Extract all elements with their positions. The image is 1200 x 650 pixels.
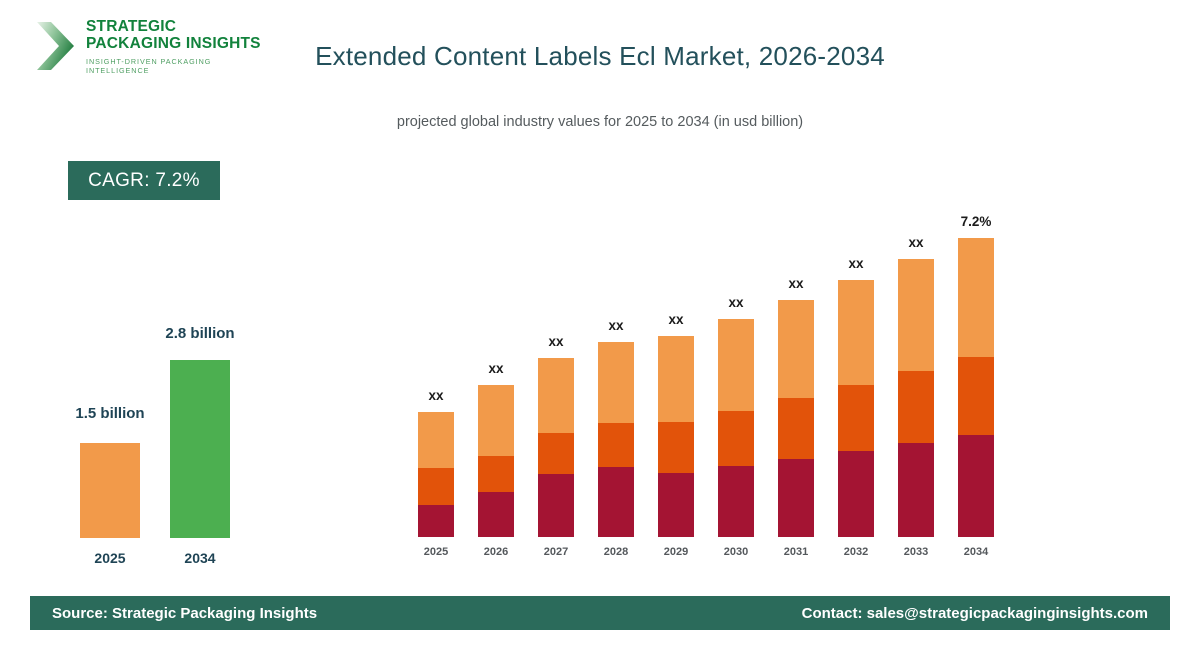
projected-market-stacked-chart: xx2025xx2026xx2027xx2028xx2029xx2030xx20…: [400, 190, 1020, 560]
stacked-segment-segment-bottom-2032: [838, 451, 874, 537]
stacked-segment-segment-bottom-2028: [598, 467, 634, 537]
stacked-bar-year-label-2028: 2028: [586, 546, 646, 558]
stacked-bar-2029: [658, 336, 694, 537]
cagr-badge: CAGR: 7.2%: [68, 161, 220, 200]
endpoint-value-label-1: 2.8 billion: [130, 325, 270, 342]
stacked-segment-segment-bottom-2025: [418, 505, 454, 537]
stacked-segment-segment-top-2025: [418, 412, 454, 468]
stacked-bar-year-label-2033: 2033: [886, 546, 946, 558]
stacked-segment-segment-top-2028: [598, 342, 634, 423]
brand-wordmark: STRATEGIC PACKAGING INSIGHTS INSIGHT-DRI…: [86, 18, 264, 75]
stacked-bar-value-label-2026: xx: [466, 361, 526, 376]
stacked-bar-value-label-2032: xx: [826, 256, 886, 271]
stacked-bar-year-label-2027: 2027: [526, 546, 586, 558]
stacked-segment-segment-bottom-2029: [658, 473, 694, 537]
endpoint-year-label-1: 2034: [155, 550, 245, 566]
stacked-bar-value-label-2027: xx: [526, 334, 586, 349]
brand-logo: STRATEGIC PACKAGING INSIGHTS INSIGHT-DRI…: [34, 18, 264, 76]
stacked-bar-2025: [418, 412, 454, 537]
stacked-bar-year-label-2026: 2026: [466, 546, 526, 558]
stacked-segment-segment-top-2032: [838, 280, 874, 385]
stacked-segment-segment-top-2034: [958, 238, 994, 357]
stacked-segment-segment-bottom-2034: [958, 435, 994, 537]
stacked-segment-segment-top-2026: [478, 385, 514, 456]
stacked-segment-segment-top-2033: [898, 259, 934, 371]
stacked-segment-segment-middle-2034: [958, 357, 994, 435]
footer-bar: Source: Strategic Packaging Insights Con…: [30, 596, 1170, 630]
stacked-bar-2028: [598, 342, 634, 537]
stacked-bar-2033: [898, 259, 934, 537]
stacked-bar-2030: [718, 319, 754, 537]
stacked-bar-2027: [538, 358, 574, 537]
stacked-segment-segment-middle-2033: [898, 371, 934, 443]
stacked-segment-segment-bottom-2033: [898, 443, 934, 537]
stacked-bar-2031: [778, 300, 814, 537]
stacked-bar-value-label-2034: 7.2%: [946, 214, 1006, 229]
page-title: Extended Content Labels Ecl Market, 2026…: [300, 38, 900, 74]
stacked-bar-value-label-2025: xx: [406, 388, 466, 403]
endpoint-bar-0: [80, 443, 140, 538]
endpoint-bar-1: [170, 360, 230, 538]
chevron-logo-icon: [34, 20, 78, 72]
stacked-segment-segment-bottom-2027: [538, 474, 574, 537]
brand-tagline: INSIGHT-DRIVEN PACKAGING INTELLIGENCE: [86, 57, 264, 75]
endpoint-value-label-0: 1.5 billion: [40, 405, 180, 422]
stacked-bar-year-label-2025: 2025: [406, 546, 466, 558]
stacked-segment-segment-middle-2026: [478, 456, 514, 492]
stacked-bar-value-label-2030: xx: [706, 295, 766, 310]
stacked-segment-segment-middle-2031: [778, 398, 814, 459]
stacked-segment-segment-bottom-2030: [718, 466, 754, 537]
stacked-bar-value-label-2028: xx: [586, 318, 646, 333]
footer-contact: Contact: sales@strategicpackaginginsight…: [802, 605, 1148, 622]
stacked-bar-2026: [478, 385, 514, 537]
stacked-segment-segment-middle-2027: [538, 433, 574, 474]
footer-source: Source: Strategic Packaging Insights: [52, 605, 317, 622]
brand-line-2: PACKAGING INSIGHTS: [86, 35, 264, 52]
stacked-segment-segment-top-2031: [778, 300, 814, 398]
stacked-segment-segment-middle-2028: [598, 423, 634, 467]
stacked-segment-segment-middle-2032: [838, 385, 874, 451]
stacked-segment-segment-top-2030: [718, 319, 754, 411]
stacked-segment-segment-top-2029: [658, 336, 694, 422]
stacked-bar-year-label-2032: 2032: [826, 546, 886, 558]
stacked-segment-segment-bottom-2026: [478, 492, 514, 537]
stacked-segment-segment-top-2027: [538, 358, 574, 433]
infographic-page: STRATEGIC PACKAGING INSIGHTS INSIGHT-DRI…: [0, 0, 1200, 650]
endpoint-year-label-0: 2025: [65, 550, 155, 566]
endpoint-comparison-chart: 1.5 billion 2025 2.8 billion 2034: [40, 300, 290, 570]
stacked-segment-segment-middle-2030: [718, 411, 754, 466]
stacked-bar-year-label-2029: 2029: [646, 546, 706, 558]
brand-line-1: STRATEGIC: [86, 18, 264, 35]
stacked-bar-2032: [838, 280, 874, 537]
stacked-segment-segment-bottom-2031: [778, 459, 814, 537]
stacked-bar-year-label-2031: 2031: [766, 546, 826, 558]
stacked-segment-segment-middle-2025: [418, 468, 454, 505]
page-subtitle: projected global industry values for 202…: [280, 114, 920, 130]
stacked-bar-2034: [958, 238, 994, 537]
stacked-bar-year-label-2034: 2034: [946, 546, 1006, 558]
stacked-bar-value-label-2033: xx: [886, 235, 946, 250]
stacked-bar-year-label-2030: 2030: [706, 546, 766, 558]
stacked-bar-value-label-2031: xx: [766, 276, 826, 291]
stacked-segment-segment-middle-2029: [658, 422, 694, 473]
stacked-bar-value-label-2029: xx: [646, 312, 706, 327]
